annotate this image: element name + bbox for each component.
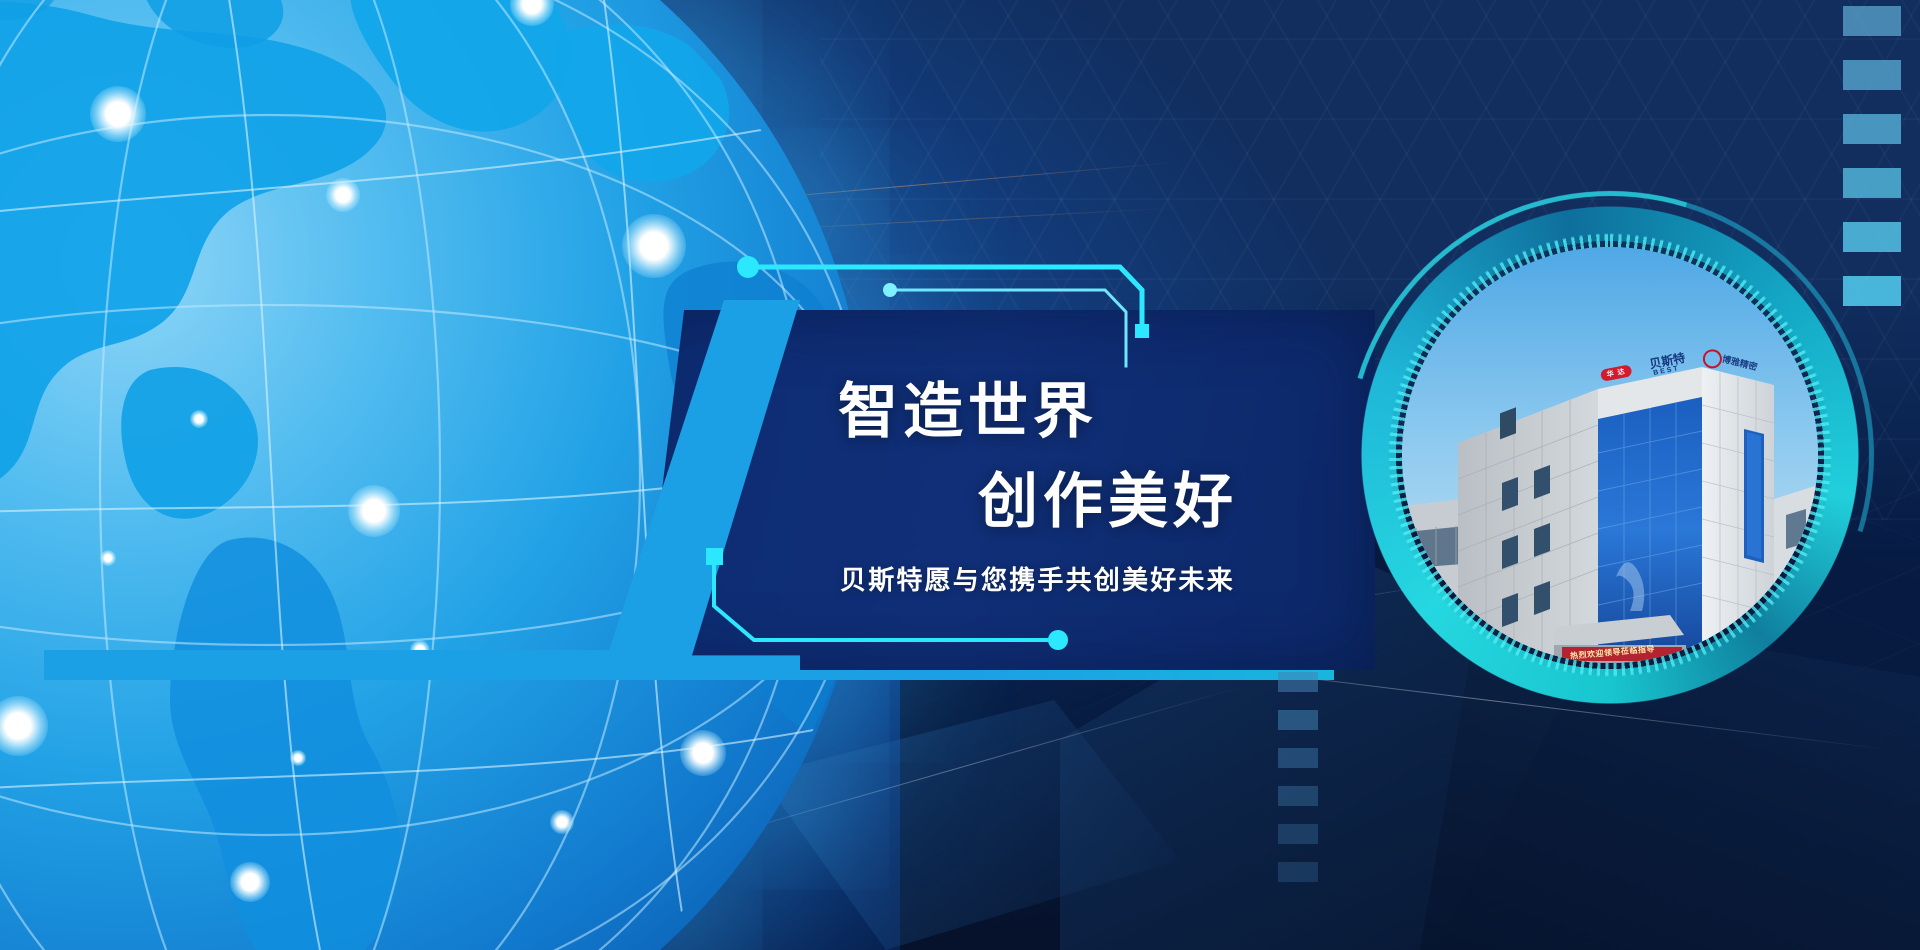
headline-line-1: 智造世界 [838,363,1098,450]
ladder-bar [1278,786,1318,806]
ladder-bar [1843,60,1901,90]
company-photo-medallion: 华 达 贝斯特 BEST 博雅精密 热烈欢迎领导莅临指导 [1360,205,1860,705]
sign-logo-mark: 华 达 [1600,364,1633,382]
hero-banner: 智造世界 创作美好 贝斯特愿与您携手共创美好未来 [0,0,1920,950]
company-building-photo: 华 达 贝斯特 BEST 博雅精密 热烈欢迎领导莅临指导 [1402,247,1818,663]
ladder-bar [1843,114,1901,144]
secondary-sign-logo-icon [1701,347,1724,370]
ladder-bar [1278,672,1318,692]
building-illustration [1402,247,1818,663]
bottom-ladder-decoration [1278,672,1318,882]
ladder-bar [1278,710,1318,730]
ladder-bar [1843,168,1901,198]
banner-subtitle: 贝斯特愿与您携手共创美好未来 [840,560,1235,597]
ladder-bar [1278,824,1318,844]
ladder-bar [1278,748,1318,768]
secondary-sign-label: 博雅精密 [1721,352,1759,373]
headline-line-2: 创作美好 [978,453,1238,540]
ladder-bar [1843,6,1901,36]
ladder-bar [1278,862,1318,882]
